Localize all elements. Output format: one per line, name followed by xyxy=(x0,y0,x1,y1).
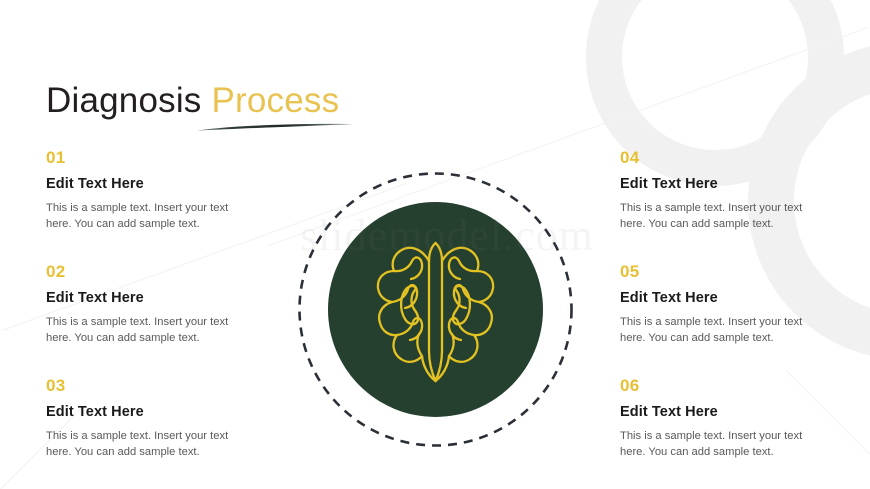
item-number: 05 xyxy=(620,262,828,282)
right-text-column: 04 Edit Text Here This is a sample text.… xyxy=(620,148,828,460)
item-body: This is a sample text. Insert your text … xyxy=(620,429,828,460)
page-title-main: Diagnosis xyxy=(46,81,202,120)
slide-canvas: Diagnosis Process 01 Edit Text Here This… xyxy=(0,0,870,489)
item-number: 06 xyxy=(620,376,828,396)
list-item[interactable]: 05 Edit Text Here This is a sample text.… xyxy=(620,262,828,346)
item-body: This is a sample text. Insert your text … xyxy=(46,201,254,232)
list-item[interactable]: 02 Edit Text Here This is a sample text.… xyxy=(46,262,254,346)
item-number: 04 xyxy=(620,148,828,168)
item-body: This is a sample text. Insert your text … xyxy=(620,315,828,346)
left-text-column: 01 Edit Text Here This is a sample text.… xyxy=(46,148,254,460)
item-heading: Edit Text Here xyxy=(620,403,828,422)
item-number: 01 xyxy=(46,148,254,168)
item-number: 03 xyxy=(46,376,254,396)
list-item[interactable]: 06 Edit Text Here This is a sample text.… xyxy=(620,376,828,460)
page-title-accent: Process xyxy=(211,81,339,120)
item-heading: Edit Text Here xyxy=(46,289,254,308)
title-brush-stroke-icon xyxy=(196,123,354,132)
item-number: 02 xyxy=(46,262,254,282)
item-heading: Edit Text Here xyxy=(46,403,254,422)
item-body: This is a sample text. Insert your text … xyxy=(46,429,254,460)
center-graphic[interactable] xyxy=(297,171,574,448)
item-heading: Edit Text Here xyxy=(46,175,254,194)
brain-icon xyxy=(366,231,505,389)
list-item[interactable]: 01 Edit Text Here This is a sample text.… xyxy=(46,148,254,232)
item-heading: Edit Text Here xyxy=(620,175,828,194)
list-item[interactable]: 03 Edit Text Here This is a sample text.… xyxy=(46,376,254,460)
item-heading: Edit Text Here xyxy=(620,289,828,308)
list-item[interactable]: 04 Edit Text Here This is a sample text.… xyxy=(620,148,828,232)
page-title[interactable]: Diagnosis Process xyxy=(46,80,339,122)
item-body: This is a sample text. Insert your text … xyxy=(46,315,254,346)
item-body: This is a sample text. Insert your text … xyxy=(620,201,828,232)
